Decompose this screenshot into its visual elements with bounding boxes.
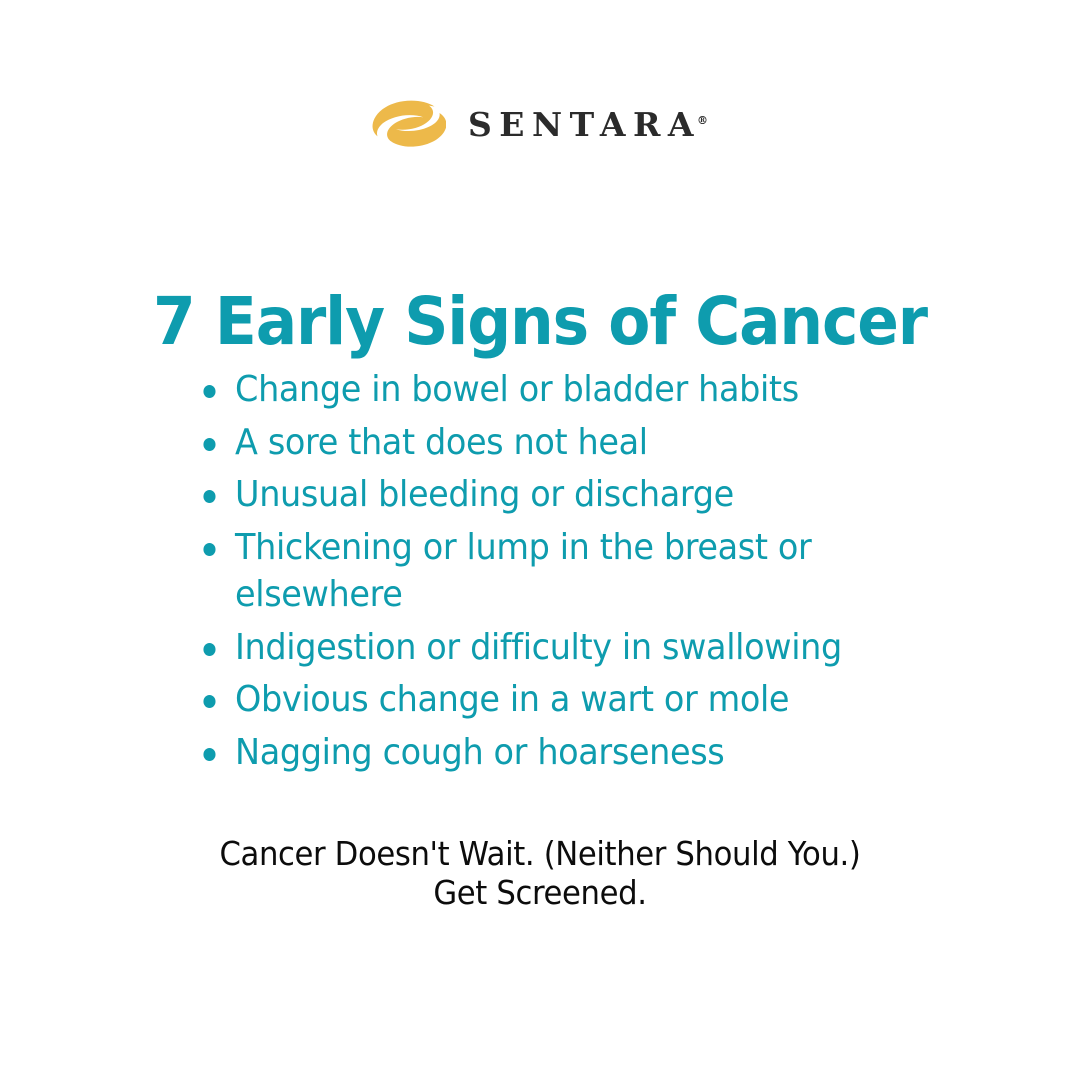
list-item: Change in bowel or bladder habits	[196, 366, 903, 414]
poster-canvas: SENTARA® 7 Early Signs of Cancer Change …	[0, 0, 1080, 1080]
sentara-wordmark: SENTARA®	[468, 108, 708, 141]
list-item: Nagging cough or hoarseness	[196, 729, 903, 777]
list-item: A sore that does not heal	[196, 419, 903, 467]
brand-logo-lockup: SENTARA®	[0, 100, 1080, 148]
cta-line-2: Get Screened.	[38, 874, 1042, 913]
list-item: Thickening or lump in the breast or else…	[196, 524, 903, 619]
list-item: Indigestion or difficulty in swallowing	[196, 624, 903, 672]
cta-line-1: Cancer Doesn't Wait. (Neither Should You…	[38, 835, 1042, 874]
call-to-action: Cancer Doesn't Wait. (Neither Should You…	[38, 835, 1042, 913]
list-item: Obvious change in a wart or mole	[196, 676, 903, 724]
page-title: 7 Early Signs of Cancer	[38, 287, 1042, 356]
sentara-wordmark-text: SENTARA	[468, 105, 701, 144]
early-signs-list: Change in bowel or bladder habits A sore…	[196, 366, 956, 781]
list-item: Unusual bleeding or discharge	[196, 471, 903, 519]
registered-trademark-icon: ®	[697, 114, 708, 127]
sentara-swirl-logo-icon	[372, 100, 446, 148]
